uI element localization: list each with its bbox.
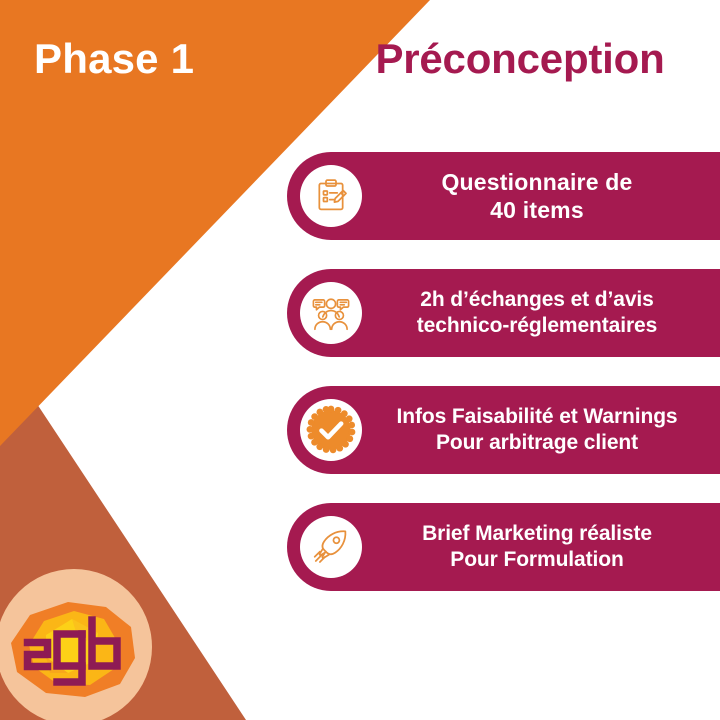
list-item[interactable]: 2h d’échanges et d’avis technico-régleme…: [287, 269, 720, 357]
list-item[interactable]: Brief Marketing réaliste Pour Formulatio…: [287, 503, 720, 591]
list-item-line-1: 2h d’échanges et d’avis: [366, 287, 708, 313]
list-item-line-1: Infos Faisabilité et Warnings: [366, 404, 708, 430]
list-item-text: 2h d’échanges et d’avis technico-régleme…: [362, 287, 720, 338]
list-item-text: Brief Marketing réaliste Pour Formulatio…: [362, 521, 720, 572]
list-item-text: Questionnaire de 40 items: [362, 168, 720, 224]
sgb-logo: sgb: [0, 557, 164, 720]
clipboard-checklist-pencil-icon: [300, 165, 362, 227]
list-item[interactable]: Infos Faisabilité et Warnings Pour arbit…: [287, 386, 720, 474]
check-badge-icon: [300, 399, 362, 461]
list-item-line-2: Pour Formulation: [366, 547, 708, 573]
page-title: Préconception: [330, 36, 710, 82]
list-item-text: Infos Faisabilité et Warnings Pour arbit…: [362, 404, 720, 455]
people-speech-bubbles-icon: [300, 282, 362, 344]
list-item-line-2: technico-réglementaires: [366, 313, 708, 339]
card-list: Questionnaire de 40 items: [287, 152, 720, 620]
list-item[interactable]: Questionnaire de 40 items: [287, 152, 720, 240]
rocket-icon: [300, 516, 362, 578]
list-item-line-1: Brief Marketing réaliste: [366, 521, 708, 547]
list-item-line-2: Pour arbitrage client: [366, 430, 708, 456]
slide-canvas: Phase 1 Préconception Questionnaire de 4…: [0, 0, 720, 720]
list-item-line-2: 40 items: [366, 196, 708, 224]
list-item-line-1: Questionnaire de: [366, 168, 708, 196]
phase-label: Phase 1: [34, 36, 284, 82]
